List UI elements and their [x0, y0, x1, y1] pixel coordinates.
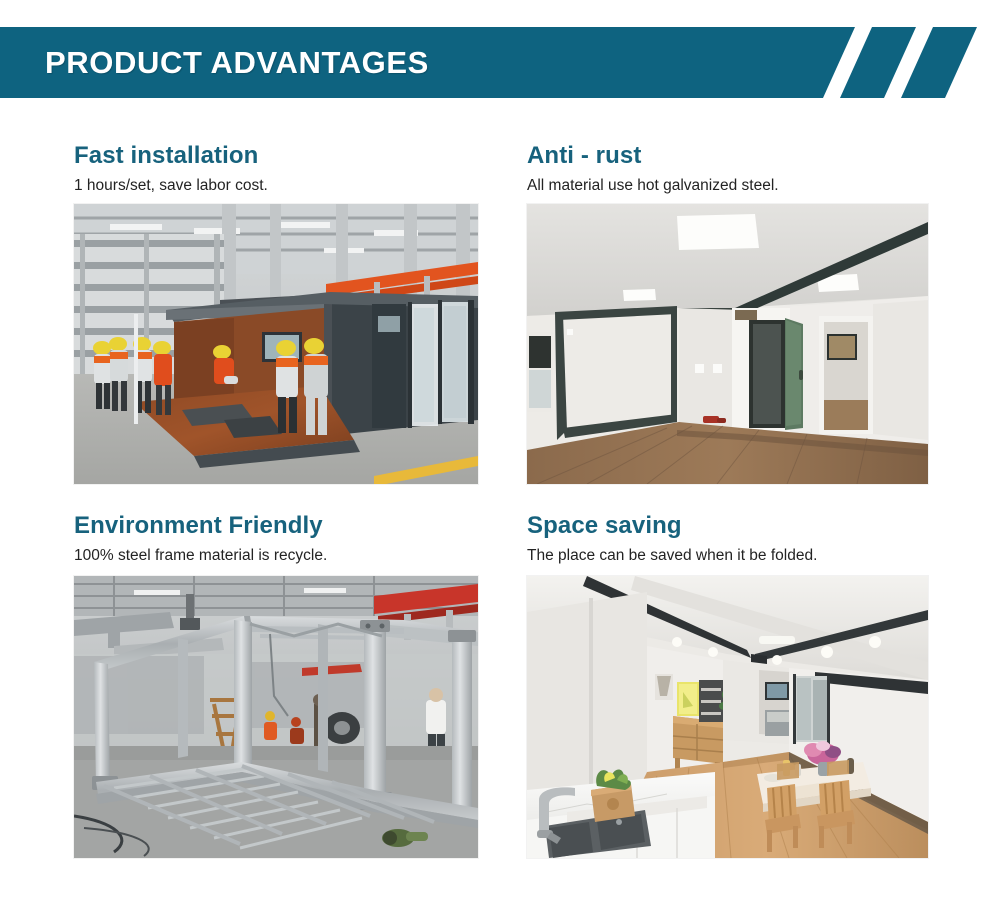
feature-anti-rust: Anti - rust All material use hot galvani…	[527, 142, 947, 196]
feature-space-saving: Space saving The place can be saved when…	[527, 512, 947, 566]
feature-title: Fast installation	[74, 142, 494, 170]
banner-stripe-2	[901, 27, 977, 98]
feature-fast-installation: Fast installation 1 hours/set, save labo…	[74, 142, 494, 196]
feature-title: Environment Friendly	[74, 512, 494, 540]
feature-subtitle: The place can be saved when it be folded…	[527, 546, 947, 566]
photo-furnished-kitchen-dining-interior	[527, 576, 928, 858]
photo-container-interior-empty-room	[527, 204, 928, 484]
photo-factory-folding-container-assembly	[74, 204, 478, 484]
feature-subtitle: 1 hours/set, save labor cost.	[74, 176, 494, 196]
feature-subtitle: All material use hot galvanized steel.	[527, 176, 947, 196]
feature-subtitle: 100% steel frame material is recycle.	[74, 546, 494, 566]
feature-environment-friendly: Environment Friendly 100% steel frame ma…	[74, 512, 494, 566]
banner-stripe-1	[840, 27, 916, 98]
photo-galvanized-steel-frame	[74, 576, 478, 858]
feature-title: Space saving	[527, 512, 947, 540]
page-title: PRODUCT ADVANTAGES	[45, 27, 429, 98]
feature-title: Anti - rust	[527, 142, 947, 170]
